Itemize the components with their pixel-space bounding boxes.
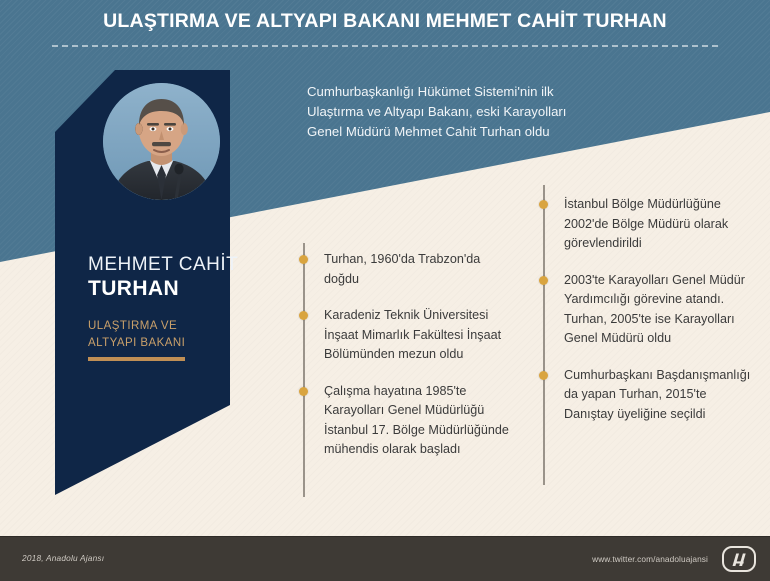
infographic-canvas: ULAŞTIRMA VE ALTYAPI BAKANI MEHMET CAHİT…	[0, 0, 770, 581]
page-title: ULAŞTIRMA VE ALTYAPI BAKANI MEHMET CAHİT…	[0, 10, 770, 33]
header-dashed-rule	[52, 45, 718, 47]
timeline-left-column: Turhan, 1960'da Trabzon'da doğdu Karaden…	[303, 250, 518, 477]
bullet-dot-icon	[539, 276, 548, 285]
list-item-text: İstanbul Bölge Müdürlüğüne 2002'de Bölge…	[564, 195, 758, 254]
list-item-text: 2003'te Karayolları Genel Müdür Yardımcı…	[564, 271, 758, 349]
list-item-text: Karadeniz Teknik Üniversitesi İnşaat Mim…	[324, 306, 518, 365]
avatar	[103, 83, 220, 200]
list-item-text: Çalışma hayatına 1985'te Karayolları Gen…	[324, 382, 518, 460]
footer-divider	[0, 536, 770, 537]
profile-role: ULAŞTIRMA VE ALTYAPI BAKANI	[88, 318, 238, 351]
profile-name-last: TURHAN	[88, 277, 248, 300]
bullet-dot-icon	[539, 200, 548, 209]
list-item-text: Cumhurbaşkanı Başdanışmanlığı da yapan T…	[564, 366, 758, 425]
timeline-right-column: İstanbul Bölge Müdürlüğüne 2002'de Bölge…	[543, 195, 758, 441]
footer-copyright: 2018, Anadolu Ajansı	[22, 553, 104, 563]
intro-paragraph: Cumhurbaşkanlığı Hükümet Sistemi'nin ilk…	[307, 82, 597, 142]
list-item: Çalışma hayatına 1985'te Karayolları Gen…	[303, 382, 518, 460]
bullet-dot-icon	[539, 371, 548, 380]
profile-name: MEHMET CAHİT TURHAN	[88, 255, 248, 300]
footer-twitter-url[interactable]: www.twitter.com/anadoluajansi	[592, 554, 708, 564]
list-item: Turhan, 1960'da Trabzon'da doğdu	[303, 250, 518, 289]
footer-bar: 2018, Anadolu Ajansı www.twitter.com/ana…	[0, 536, 770, 581]
bullet-dot-icon	[299, 311, 308, 320]
list-item-text: Turhan, 1960'da Trabzon'da doğdu	[324, 250, 518, 289]
list-item: İstanbul Bölge Müdürlüğüne 2002'de Bölge…	[543, 195, 758, 254]
accent-bar	[88, 357, 185, 361]
header-bar: ULAŞTIRMA VE ALTYAPI BAKANI MEHMET CAHİT…	[0, 0, 770, 57]
bullet-dot-icon	[299, 255, 308, 264]
profile-name-first: MEHMET CAHİT	[88, 255, 248, 275]
list-item: Cumhurbaşkanı Başdanışmanlığı da yapan T…	[543, 366, 758, 425]
list-item: 2003'te Karayolları Genel Müdür Yardımcı…	[543, 271, 758, 349]
list-item: Karadeniz Teknik Üniversitesi İnşaat Mim…	[303, 306, 518, 365]
anadolu-ajansi-logo-icon	[722, 546, 756, 572]
bullet-dot-icon	[299, 387, 308, 396]
